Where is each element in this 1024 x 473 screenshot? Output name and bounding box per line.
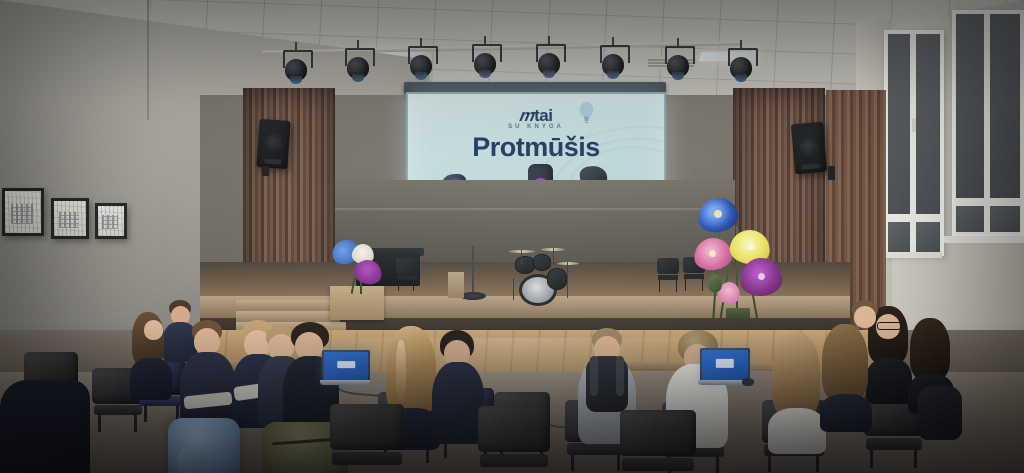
framed-picture-2 [51, 198, 89, 239]
flower-center [747, 243, 755, 250]
stage-chair[interactable] [657, 258, 679, 292]
window-sill [884, 252, 942, 258]
student-dark-hair-center [432, 330, 484, 442]
tom-drum [533, 254, 551, 271]
window-pane [916, 34, 940, 214]
laptop-lid [322, 350, 370, 384]
floor-tom [547, 268, 567, 290]
student-boy-far-right [846, 300, 884, 358]
head [854, 306, 876, 328]
torso [768, 408, 826, 454]
speaker-bracket-left [262, 166, 269, 176]
student-foreground-left [0, 380, 90, 473]
photo-scene: mtai SU KNYGA Protmūšis DOVANŲ KORTELĖ [0, 0, 1024, 473]
speaker-cone [264, 133, 284, 154]
hi-hat [557, 262, 579, 265]
pa-speaker-right [791, 122, 827, 175]
slide-logo-subtitle: SU KNYGA [408, 124, 664, 130]
torso [130, 358, 172, 400]
picture-artwork [54, 201, 86, 236]
audience-chair-foreground[interactable] [330, 404, 404, 473]
long-hair [910, 318, 950, 380]
framed-picture-1 [2, 188, 44, 236]
torso [820, 394, 872, 432]
speaker-tweeter [802, 163, 820, 170]
student-long-hair-right [768, 332, 826, 452]
computer-mouse[interactable] [742, 378, 754, 386]
picture-artwork [5, 191, 41, 233]
hair-highlight [396, 340, 406, 404]
backpack-pocket [178, 448, 208, 473]
stage-panel-trim [335, 208, 735, 210]
drum-leg [567, 262, 568, 298]
laptop-base [320, 380, 370, 385]
mic-pole [472, 246, 474, 294]
cymbal [509, 250, 535, 253]
wall-corner-line [147, 0, 149, 120]
window-pane [990, 206, 1020, 232]
flower-center [714, 210, 722, 218]
flower-center [758, 273, 765, 280]
laptop-screen-icon [716, 359, 734, 367]
head [194, 328, 220, 355]
window-pane [888, 222, 910, 252]
slide-event-title: Protmūšis [408, 132, 664, 163]
audience-chair-foreground[interactable] [478, 406, 550, 473]
laptop-screen-icon [337, 361, 355, 369]
drum-leg [513, 278, 514, 300]
drum-leg [553, 248, 554, 264]
stage-box [448, 272, 464, 298]
laptop-screen [702, 350, 748, 382]
torso [432, 362, 484, 444]
student-boy-striped [180, 320, 236, 430]
flower-vase [726, 308, 750, 322]
backpack-strap [616, 356, 624, 396]
decor-flowers-left [330, 238, 396, 296]
drum-kit [495, 248, 585, 300]
drum-leg [521, 250, 522, 264]
pa-speaker-left [256, 119, 290, 169]
picture-artwork [98, 206, 124, 236]
backpack-strap [590, 356, 598, 396]
student-girl-left [130, 312, 172, 392]
speaker-cone [798, 136, 819, 159]
decor-flowers-right [692, 196, 804, 320]
flower-bud [708, 274, 722, 292]
slide-logo: mtai [408, 106, 664, 126]
flower-center [709, 250, 716, 257]
window-pane [888, 34, 910, 214]
framed-picture-3 [95, 203, 127, 239]
laptop-left[interactable] [322, 350, 370, 388]
speaker-tweeter [264, 159, 281, 165]
tom-drum [515, 256, 535, 274]
torso [866, 358, 912, 404]
laptop-screen [324, 352, 368, 382]
speaker-bracket-right [828, 166, 835, 180]
window-handle[interactable] [912, 118, 916, 132]
window-pane [956, 14, 984, 198]
backpack-dark-right [918, 386, 962, 440]
window-2 [952, 10, 1024, 238]
head [144, 320, 163, 340]
stage-chair[interactable] [396, 258, 416, 290]
lightbulb-icon [578, 102, 595, 124]
window-pane [990, 14, 1020, 198]
window-sill [944, 236, 1024, 243]
window-pane [916, 222, 940, 252]
audience-chair-foreground[interactable] [620, 410, 696, 473]
long-hair [772, 332, 820, 418]
window-1 [884, 30, 944, 256]
window-pane [956, 206, 984, 232]
